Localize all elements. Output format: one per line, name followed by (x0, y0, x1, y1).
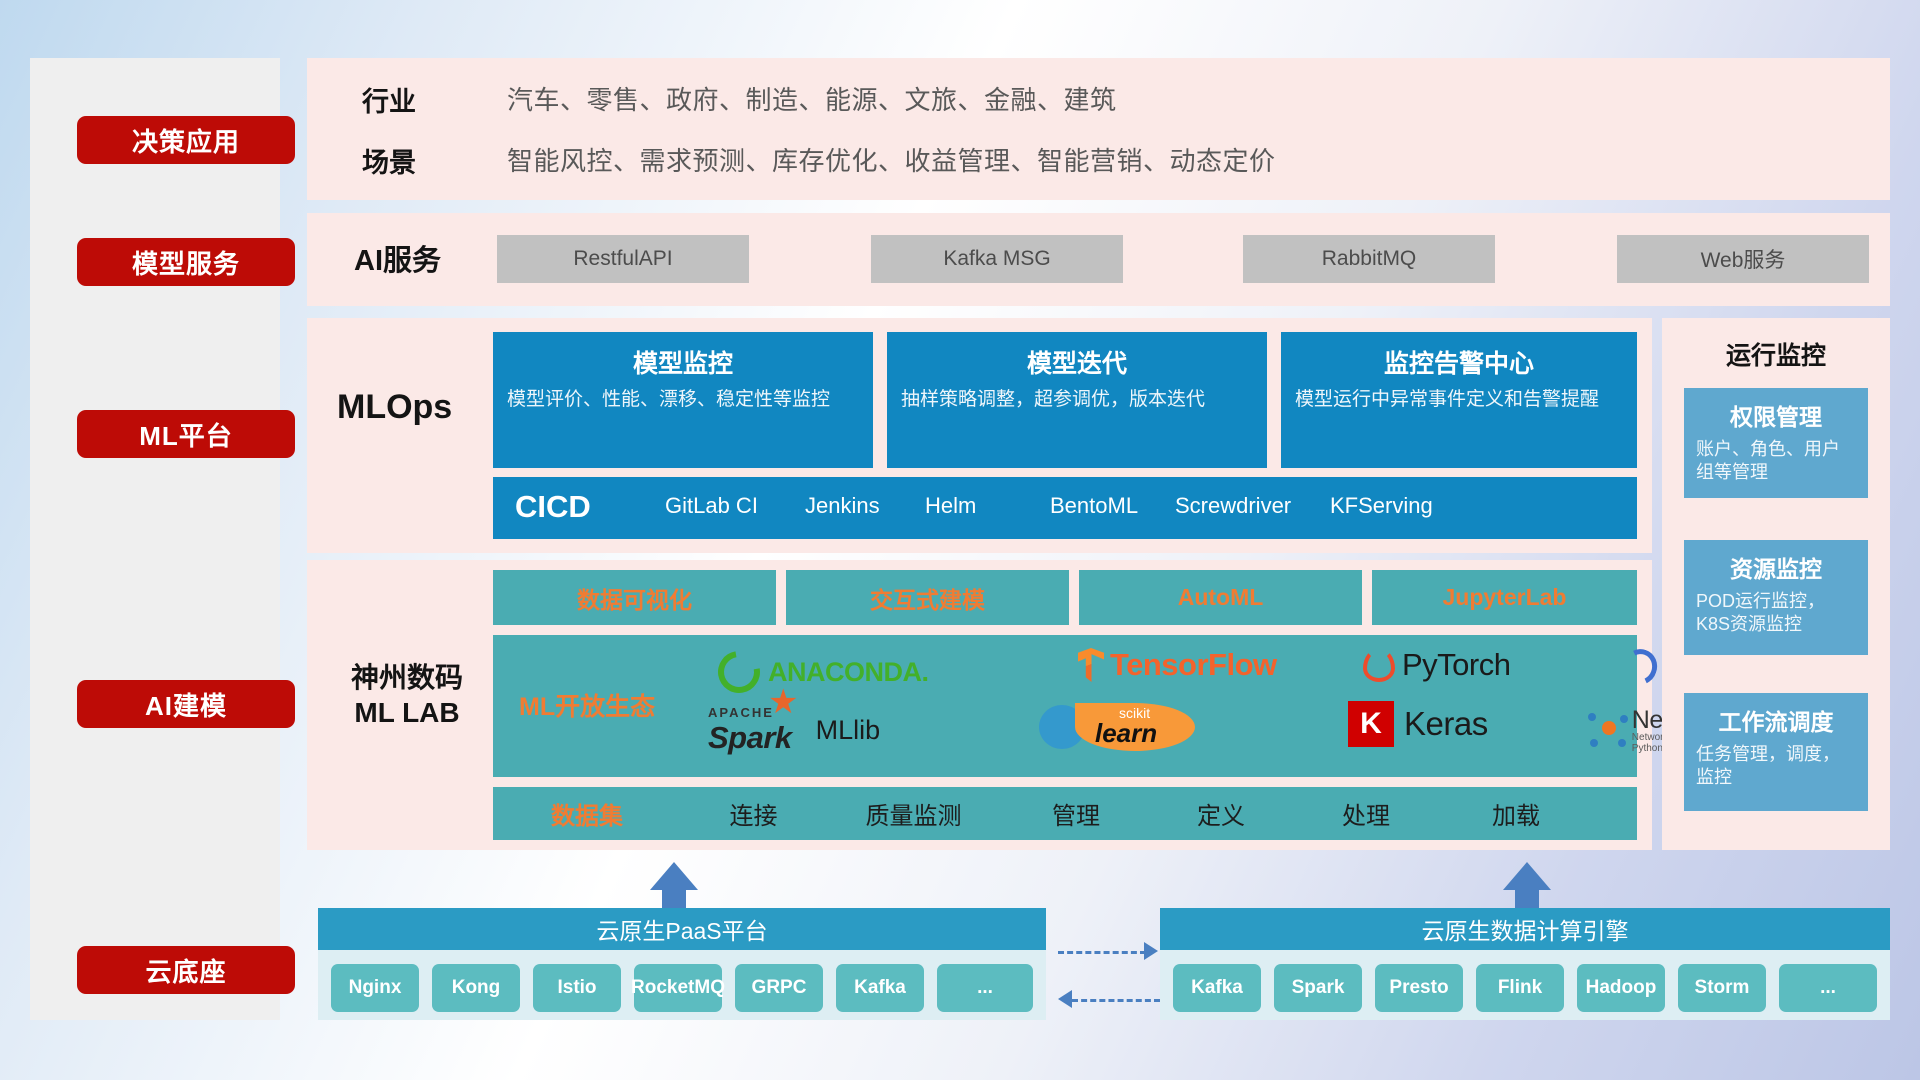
cloud-engine-panel: 云原生数据计算引擎 Kafka Spark Presto Flink Hadoo… (1160, 908, 1890, 1020)
cicd-item-kfserving[interactable]: KFServing (1330, 477, 1470, 518)
service-label: RabbitMQ (1322, 247, 1417, 271)
cloud-engine-title-text: 云原生数据计算引擎 (1422, 912, 1629, 946)
sidebar-item-label: AI建模 (145, 686, 227, 723)
sidebar-item-label: 模型服务 (132, 244, 240, 281)
chip-more[interactable]: ... (937, 964, 1033, 1012)
cicd-bar: CICD GitLab CI Jenkins Helm BentoML Scre… (493, 477, 1637, 539)
card-title: 工作流调度 (1696, 703, 1856, 737)
ml-lab-band: 神州数码 ML LAB 数据可视化 交互式建模 AutoML JupyterLa… (307, 560, 1652, 850)
chip-nginx[interactable]: Nginx (331, 964, 419, 1012)
connector-arrow-right-icon (1144, 942, 1158, 960)
card-desc: 抽样策略调整，超参调优，版本迭代 (901, 388, 1253, 413)
service-label: RestfulAPI (573, 247, 672, 271)
card-title: 资源监控 (1696, 550, 1856, 584)
connector-dashed-left (1072, 999, 1160, 1002)
learn-wordmark: learn (1095, 718, 1157, 749)
cloud-paas-title: 云原生PaaS平台 (318, 908, 1046, 950)
chip-flink[interactable]: Flink (1476, 964, 1564, 1012)
dataset-item-manage[interactable]: 管理 (1001, 796, 1151, 831)
pytorch-flame-icon (1363, 648, 1395, 682)
architecture-diagram: 决策应用 模型服务 ML平台 AI建模 云底座 行业 汽车、零售、政府、制造、能… (0, 0, 1920, 1080)
card-title: 模型监控 (507, 344, 859, 380)
sidebar-item-cloud-base[interactable]: 云底座 (77, 946, 295, 994)
tool-label: 数据可视化 (577, 581, 692, 615)
dataset-item-connect[interactable]: 连接 (681, 796, 826, 831)
industry-key: 行业 (362, 80, 416, 119)
tool-label: AutoML (1178, 584, 1264, 611)
tensorflow-wordmark: TensorFlow (1110, 647, 1277, 683)
chip-storm[interactable]: Storm (1678, 964, 1766, 1012)
pytorch-wordmark: PyTorch (1402, 647, 1510, 683)
card-desc: POD运行监控，K8S资源监控 (1696, 590, 1856, 637)
anaconda-ring-icon (710, 643, 768, 701)
spark-mark-icon: ★ APACHE Spark (708, 705, 792, 756)
card-desc: 任务管理，调度，监控 (1696, 743, 1856, 790)
chip-kafka-engine[interactable]: Kafka (1173, 964, 1261, 1012)
tensorflow-mark-icon (1078, 648, 1104, 682)
card-desc: 账户、角色、用户组等管理 (1696, 438, 1856, 485)
arrow-up-engine-stem (1515, 888, 1539, 910)
pytorch-logo: PyTorch (1363, 647, 1510, 683)
connector-arrow-left-icon (1058, 990, 1072, 1008)
sidebar-item-label: 决策应用 (132, 122, 240, 159)
chip-spark[interactable]: Spark (1274, 964, 1362, 1012)
chip-rocketmq[interactable]: RocketMQ (634, 964, 722, 1012)
arrow-up-paas-icon (650, 862, 698, 890)
networkx-graph-icon (1588, 713, 1626, 749)
cicd-title: CICD (493, 477, 665, 525)
keras-wordmark: Keras (1404, 705, 1488, 743)
ai-service-band: AI服务 RestfulAPI Kafka MSG RabbitMQ Web服务 (307, 213, 1890, 306)
dataset-item-process[interactable]: 处理 (1291, 796, 1441, 831)
cicd-item-helm[interactable]: Helm (925, 477, 1050, 518)
service-label: Kafka MSG (943, 247, 1050, 271)
card-desc: 模型运行中异常事件定义和告警提醒 (1295, 388, 1623, 413)
tool-label: 交互式建模 (870, 581, 985, 615)
tool-jupyterlab[interactable]: JupyterLab (1372, 570, 1637, 625)
arrow-up-engine-icon (1503, 862, 1551, 890)
scene-key: 场景 (362, 141, 416, 180)
mlops-card-alert-center[interactable]: 监控告警中心 模型运行中异常事件定义和告警提醒 (1281, 332, 1637, 468)
ml-lab-label: 神州数码 ML LAB (327, 660, 487, 730)
chip-kong[interactable]: Kong (432, 964, 520, 1012)
cloud-paas-title-text: 云原生PaaS平台 (596, 912, 767, 946)
service-kafka-msg[interactable]: Kafka MSG (871, 235, 1123, 283)
monitor-card-permission[interactable]: 权限管理 账户、角色、用户组等管理 (1684, 388, 1868, 498)
dataset-item-load[interactable]: 加载 (1441, 796, 1591, 831)
chip-grpc[interactable]: GRPC (735, 964, 823, 1012)
sidebar-item-label: 云底座 (145, 952, 226, 989)
ml-lab-label-line2: ML LAB (327, 695, 487, 730)
connector-dashed-right (1058, 951, 1146, 954)
cicd-item-screwdriver[interactable]: Screwdriver (1175, 477, 1330, 518)
service-web[interactable]: Web服务 (1617, 235, 1869, 283)
service-rabbitmq[interactable]: RabbitMQ (1243, 235, 1495, 283)
monitor-card-resource[interactable]: 资源监控 POD运行监控，K8S资源监控 (1684, 540, 1868, 655)
ml-ecosystem-label: ML开放生态 (519, 687, 655, 723)
card-title: 监控告警中心 (1295, 344, 1623, 380)
mllib-wordmark: MLlib (816, 715, 881, 746)
cicd-item-jenkins[interactable]: Jenkins (805, 477, 925, 518)
mlops-band: MLOps 模型监控 模型评价、性能、漂移、稳定性等监控 模型迭代 抽样策略调整… (307, 318, 1652, 553)
ml-lab-label-line1: 神州数码 (327, 660, 487, 695)
decision-application-band: 行业 汽车、零售、政府、制造、能源、文旅、金融、建筑 场景 智能风控、需求预测、… (307, 58, 1890, 200)
dataset-label: 数据集 (493, 796, 681, 831)
spark-wordmark: Spark (708, 720, 792, 755)
cicd-item-gitlab-ci[interactable]: GitLab CI (665, 477, 805, 518)
tool-interactive-modeling[interactable]: 交互式建模 (786, 570, 1069, 625)
card-title: 模型迭代 (901, 344, 1253, 380)
industry-value: 汽车、零售、政府、制造、能源、文旅、金融、建筑 (507, 80, 1117, 117)
cloud-engine-title: 云原生数据计算引擎 (1160, 908, 1890, 950)
chip-more-engine[interactable]: ... (1779, 964, 1877, 1012)
sidebar-item-ml-platform[interactable]: ML平台 (77, 410, 295, 458)
spark-mllib-logo: ★ APACHE Spark MLlib (708, 705, 880, 756)
layer-rail: 决策应用 模型服务 ML平台 AI建模 云底座 (30, 58, 280, 1020)
mlops-label: MLOps (337, 388, 452, 427)
chip-presto[interactable]: Presto (1375, 964, 1463, 1012)
keras-mark-icon: K (1348, 701, 1394, 747)
runtime-monitor-title: 运行监控 (1662, 336, 1890, 372)
sidebar-item-decision-app[interactable]: 决策应用 (77, 116, 295, 164)
tool-label: JupyterLab (1443, 584, 1567, 611)
sidebar-item-label: ML平台 (139, 416, 233, 453)
chip-hadoop[interactable]: Hadoop (1577, 964, 1665, 1012)
cloud-paas-panel: 云原生PaaS平台 Nginx Kong Istio RocketMQ GRPC… (318, 908, 1046, 1020)
scene-value: 智能风控、需求预测、库存优化、收益管理、智能营销、动态定价 (507, 141, 1276, 178)
mlops-card-model-iteration[interactable]: 模型迭代 抽样策略调整，超参调优，版本迭代 (887, 332, 1267, 468)
chip-kafka[interactable]: Kafka (836, 964, 924, 1012)
dataset-row: 数据集 连接 质量监测 管理 定义 处理 加载 (493, 787, 1637, 840)
sas-swirl-icon (1618, 644, 1662, 689)
service-label: Web服务 (1701, 244, 1786, 274)
runtime-monitor-panel: 运行监控 权限管理 账户、角色、用户组等管理 资源监控 POD运行监控，K8S资… (1662, 318, 1890, 850)
monitor-card-workflow[interactable]: 工作流调度 任务管理，调度，监控 (1684, 693, 1868, 811)
tool-automl[interactable]: AutoML (1079, 570, 1362, 625)
ai-service-label: AI服务 (354, 237, 441, 279)
chip-istio[interactable]: Istio (533, 964, 621, 1012)
keras-logo: K Keras (1348, 701, 1488, 747)
service-restfulapi[interactable]: RestfulAPI (497, 235, 749, 283)
tensorflow-logo: TensorFlow (1078, 647, 1277, 683)
card-title: 权限管理 (1696, 398, 1856, 432)
scikit-learn-mark: scikit learn (1075, 703, 1195, 751)
tool-data-visualization[interactable]: 数据可视化 (493, 570, 776, 625)
scikit-learn-logo: scikit learn (1039, 703, 1195, 751)
dataset-item-define[interactable]: 定义 (1151, 796, 1291, 831)
sidebar-item-model-service[interactable]: 模型服务 (77, 238, 295, 286)
anaconda-logo: ANACONDA. (718, 651, 929, 693)
arrow-up-paas-stem (662, 888, 686, 910)
card-desc: 模型评价、性能、漂移、稳定性等监控 (507, 388, 859, 413)
ml-ecosystem-panel: ML开放生态 ANACONDA. TensorFlow PyTorch sas (493, 635, 1637, 777)
cicd-item-bentoml[interactable]: BentoML (1050, 477, 1175, 518)
mlops-card-model-monitoring[interactable]: 模型监控 模型评价、性能、漂移、稳定性等监控 (493, 332, 873, 468)
sidebar-item-ai-modeling[interactable]: AI建模 (77, 680, 295, 728)
dataset-item-quality[interactable]: 质量监测 (826, 796, 1001, 831)
